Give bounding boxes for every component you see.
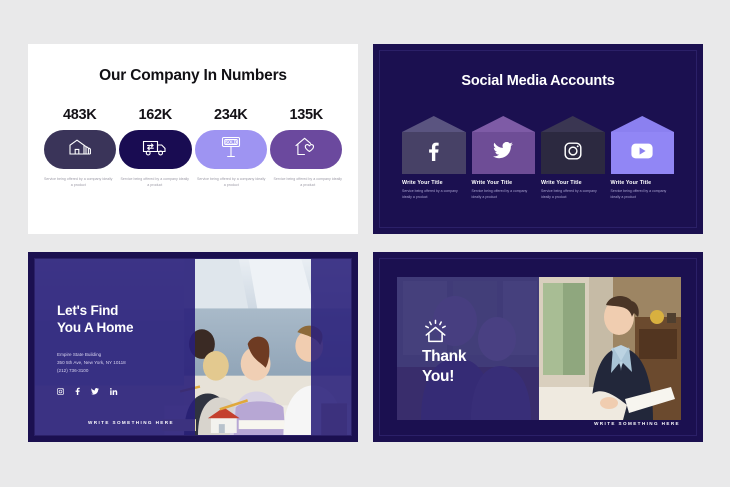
twitter-icon[interactable] bbox=[91, 382, 99, 400]
heading-line-2: You! bbox=[422, 367, 466, 387]
stat-pill[interactable] bbox=[44, 130, 116, 169]
card-title: Write Your Title bbox=[402, 180, 466, 186]
stat-pill[interactable] bbox=[119, 130, 191, 169]
stat-caption: Service being offered by a company ideal… bbox=[270, 177, 347, 188]
card-subtitle: Service being offered by a company ideal… bbox=[541, 189, 605, 200]
social-links-row bbox=[57, 382, 118, 400]
heading-line-1: Let's Find bbox=[57, 302, 133, 319]
roof-shape bbox=[611, 116, 675, 132]
social-card-facebook[interactable]: Write Your Title Service being offered b… bbox=[402, 116, 466, 200]
contact-address: Empire State Building 350 5th Ave, New Y… bbox=[57, 351, 126, 375]
presentation-preview-canvas: Our Company In Numbers 483K 162K 234K 13… bbox=[0, 0, 730, 487]
footer-text: WRITE SOMETHING HERE bbox=[594, 421, 680, 426]
instagram-icon bbox=[564, 142, 582, 165]
purple-overlay bbox=[397, 277, 539, 420]
slide-body: Social Media Accounts Write bbox=[379, 50, 697, 228]
stat-caption: Service being offered by a company ideal… bbox=[117, 177, 194, 188]
slide-thank-you[interactable]: Thank You! bbox=[373, 252, 703, 442]
social-card-twitter[interactable]: Write Your Title Service being offered b… bbox=[472, 116, 536, 200]
roof-shape bbox=[541, 116, 605, 132]
facebook-icon bbox=[428, 141, 439, 166]
svg-text:SOLD: SOLD bbox=[225, 140, 236, 145]
roof-shape bbox=[402, 116, 466, 132]
right-accent-panel bbox=[311, 259, 351, 435]
stat-pill[interactable]: SOLD bbox=[195, 130, 267, 169]
slide-social-media-accounts[interactable]: Social Media Accounts Write bbox=[373, 44, 703, 234]
house-heart-icon bbox=[294, 136, 318, 163]
stat-pill[interactable] bbox=[270, 130, 342, 169]
text-overlay-panel bbox=[35, 259, 195, 435]
address-line-2: 350 5th Ave, New York, NY 10118 bbox=[57, 359, 126, 367]
address-line-1: Empire State Building bbox=[57, 351, 126, 359]
house-body bbox=[541, 132, 605, 174]
page-title: Let's Find You A Home bbox=[57, 302, 133, 337]
social-cards-row: Write Your Title Service being offered b… bbox=[402, 116, 674, 200]
stat-value: 234K bbox=[214, 107, 247, 123]
stat-value: 483K bbox=[63, 107, 96, 123]
instagram-icon[interactable] bbox=[57, 382, 64, 400]
stat-value: 162K bbox=[139, 107, 172, 123]
sold-sign-icon: SOLD bbox=[220, 135, 242, 164]
slide-body: Let's Find You A Home Empire State Build… bbox=[34, 258, 352, 436]
youtube-icon bbox=[631, 143, 653, 164]
house-body bbox=[472, 132, 536, 174]
photo-strip: Thank You! bbox=[397, 277, 681, 420]
roof-shape bbox=[472, 116, 536, 132]
house-body bbox=[402, 132, 466, 174]
real-estate-agent-photo bbox=[539, 277, 681, 420]
linkedin-icon[interactable] bbox=[110, 382, 118, 400]
card-subtitle: Service being offered by a company ideal… bbox=[611, 189, 675, 200]
stat-value: 135K bbox=[290, 107, 323, 123]
page-title: Social Media Accounts bbox=[380, 73, 696, 89]
slide-lets-find-you-a-home[interactable]: Let's Find You A Home Empire State Build… bbox=[28, 252, 358, 442]
stat-values-row: 483K 162K 234K 135K bbox=[42, 106, 344, 124]
card-title: Write Your Title bbox=[611, 180, 675, 186]
card-subtitle: Service being offered by a company ideal… bbox=[402, 189, 466, 200]
warehouse-icon bbox=[68, 137, 92, 162]
stat-caption: Service being offered by a company ideal… bbox=[193, 177, 270, 188]
stat-value-cell: 234K bbox=[193, 106, 269, 124]
stat-value-cell: 162K bbox=[118, 106, 194, 124]
house-shape bbox=[541, 116, 605, 174]
stat-value-cell: 135K bbox=[269, 106, 345, 124]
heading-line-1: Thank bbox=[422, 347, 466, 367]
social-card-instagram[interactable]: Write Your Title Service being offered b… bbox=[541, 116, 605, 200]
card-title: Write Your Title bbox=[472, 180, 536, 186]
stat-captions-row: Service being offered by a company ideal… bbox=[40, 177, 346, 188]
house-shape bbox=[472, 116, 536, 174]
social-card-youtube[interactable]: Write Your Title Service being offered b… bbox=[611, 116, 675, 200]
stat-value-cell: 483K bbox=[42, 106, 118, 124]
house-rays-icon bbox=[423, 319, 448, 349]
phone-number: (212) 736-3100 bbox=[57, 367, 126, 375]
twitter-icon bbox=[493, 142, 513, 164]
card-title: Write Your Title bbox=[541, 180, 605, 186]
stat-caption: Service being offered by a company ideal… bbox=[40, 177, 117, 188]
slide-our-company-in-numbers[interactable]: Our Company In Numbers 483K 162K 234K 13… bbox=[28, 44, 358, 234]
house-shape bbox=[611, 116, 675, 174]
facebook-icon[interactable] bbox=[75, 382, 80, 400]
house-body bbox=[611, 132, 675, 174]
footer-text: WRITE SOMETHING HERE bbox=[88, 420, 174, 425]
page-title: Thank You! bbox=[422, 347, 466, 387]
page-title: Our Company In Numbers bbox=[28, 67, 358, 85]
moving-truck-icon bbox=[142, 137, 168, 162]
stat-pills-row: SOLD bbox=[44, 130, 342, 169]
slide-body: Thank You! bbox=[379, 258, 697, 436]
house-shape bbox=[402, 116, 466, 174]
elderly-couple-photo: Thank You! bbox=[397, 277, 539, 420]
heading-line-2: You A Home bbox=[57, 319, 133, 336]
card-subtitle: Service being offered by a company ideal… bbox=[472, 189, 536, 200]
